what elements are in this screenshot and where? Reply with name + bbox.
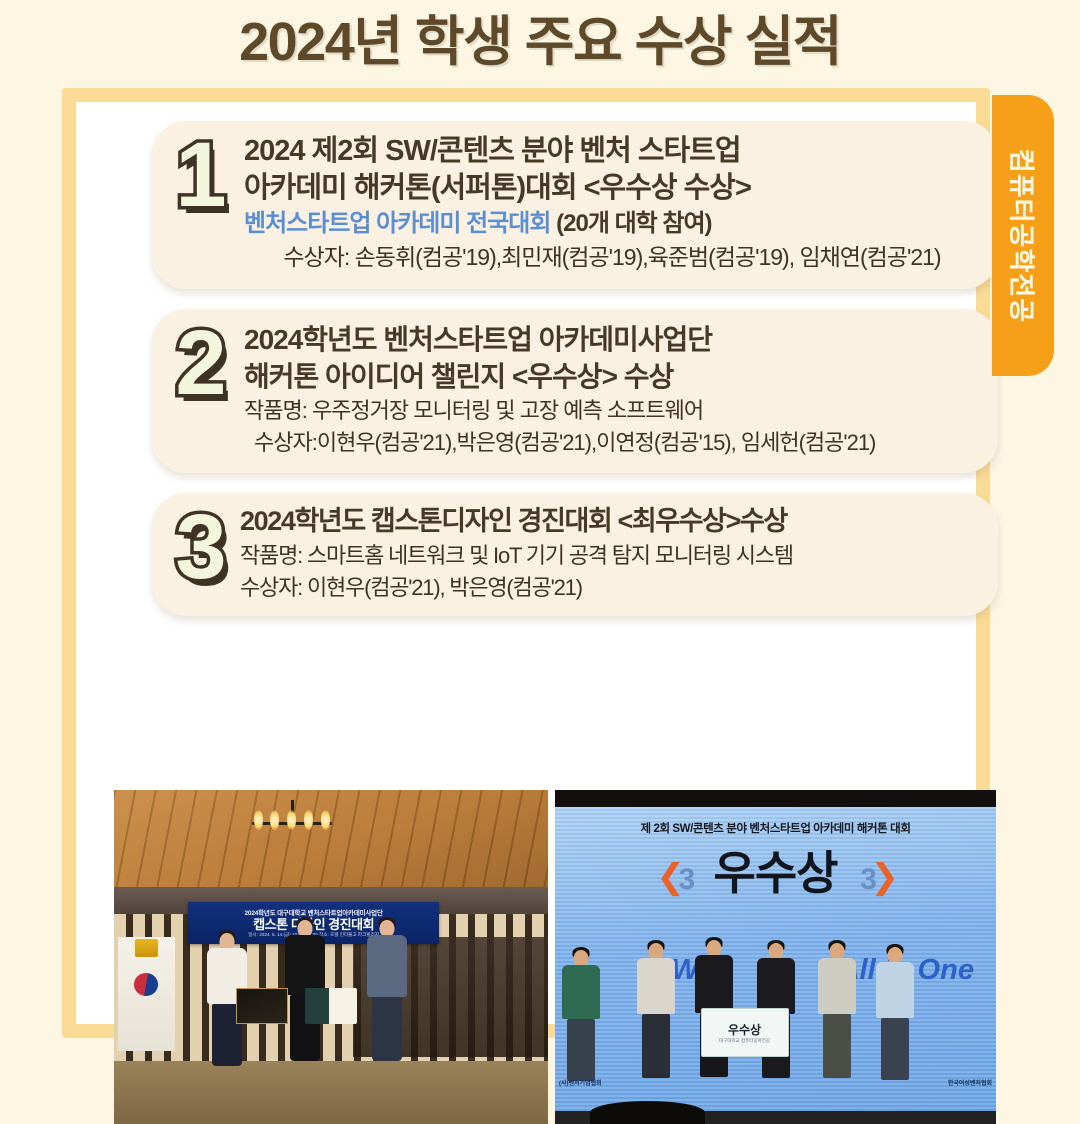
award-3-winners: 수상자: 이현우(컴공'21), 박은영(컴공'21): [240, 572, 986, 604]
photo2-logo-right: 한국여성벤처협회: [948, 1078, 992, 1087]
department-tab: 컴퓨터공학전공: [992, 95, 1054, 376]
photo2-board-title: 우수상: [728, 1021, 761, 1038]
photo2-award-board: 우수상 대구대학교 컴퓨터공학전공: [701, 1008, 789, 1057]
photo2-logo-left: (사)벤처기업협회: [559, 1078, 602, 1087]
photo1-banner-line-2: 캡스톤 디자인 경진대회: [253, 917, 374, 932]
photo2-top-bar: [555, 790, 996, 807]
photo1-award-plaque: [236, 988, 288, 1024]
award-2-winners: 수상자:이현우(컴공'21),박은영(컴공'21),이연정(컴공'15), 임세…: [244, 427, 980, 459]
photo2-audience-silhouette: [590, 1101, 705, 1124]
page-title: 2024년 학생 주요 수상 실적: [0, 2, 1080, 82]
hackathon-award-photo: 제 2회 SW/콘텐츠 분야 벤처스타트업 아카데미 해커톤 대회 ❮ 3 우수…: [555, 790, 996, 1124]
award-3-headline-1: 2024학년도 캡스톤디자인 경진대회 <최우수상>수상: [240, 503, 986, 540]
korean-flag-icon: [118, 937, 174, 1051]
department-tab-label: 컴퓨터공학전공: [1005, 148, 1042, 322]
award-card-3: 3 2024학년도 캡스톤디자인 경진대회 <최우수상>수상 작품명: 스마트홈…: [152, 493, 998, 616]
laurel-right-icon: ❯: [870, 857, 899, 897]
award-1-headline-1: 2024 제2회 SW/콘텐츠 분야 벤처 스타트업: [244, 133, 980, 170]
photo1-floor: [114, 1061, 548, 1124]
award-card-2: 2 2024학년도 벤처스타트업 아카데미사업단 해커톤 아이디어 챌린지 <우…: [152, 309, 998, 473]
photo2-sponsor-logos: (사)벤처기업협회 한국여성벤처협회: [555, 1071, 996, 1094]
award-1-subtitle-tail: (20개 대학 참여): [550, 210, 711, 237]
chandelier-icon: [244, 800, 339, 853]
award-1-winners: 수상자: 손동휘(컴공'19),최민재(컴공'19),육준범(컴공'19), 임…: [244, 241, 980, 273]
award-1-headline-2: 아카데미 해커톤(서퍼톤)대회 <우수상 수상>: [244, 170, 980, 207]
award-2-headline-2: 해커톤 아이디어 챌린지 <우수상> 수상: [244, 358, 980, 395]
award-poster: 2024년 학생 주요 수상 실적 컴퓨터공학전공 1 2024 제2회 SW/…: [0, 0, 1080, 1080]
award-number-badge-2: 2: [164, 315, 238, 412]
poster-frame: 1 2024 제2회 SW/콘텐츠 분야 벤처 스타트업 아카데미 해커톤(서퍼…: [62, 88, 990, 1038]
award-number-badge-3: 3: [164, 499, 238, 596]
award-1-subtitle-highlight: 벤처스타트업 아카데미 전국대회: [244, 210, 550, 237]
photo1-banner-line-1: 2024학년도 대구대학교 벤처스타트업아카데미사업단: [244, 907, 382, 917]
award-2-work-title: 작품명: 우주정거장 모니터링 및 고장 예측 소프트웨어: [244, 395, 980, 427]
award-3-work-title: 작품명: 스마트홈 네트워크 및 IoT 기기 공격 탐지 모니터링 시스템: [240, 540, 986, 572]
photo2-board-subtitle: 대구대학교 컴퓨터공학전공: [719, 1038, 770, 1044]
capstone-ceremony-photo: 2024학년도 대구대학교 벤처스타트업아카데미사업단 캡스톤 디자인 경진대회…: [114, 790, 548, 1124]
award-number-badge-1: 1: [164, 127, 238, 224]
award-card-list: 1 2024 제2회 SW/콘텐츠 분야 벤처 스타트업 아카데미 해커톤(서퍼…: [152, 121, 998, 636]
award-card-1: 1 2024 제2회 SW/콘텐츠 분야 벤처 스타트업 아카데미 해커톤(서퍼…: [152, 121, 998, 289]
photo1-certificate: [305, 988, 357, 1024]
photo2-screen-title: 제 2회 SW/콘텐츠 분야 벤처스타트업 아카데미 해커톤 대회: [555, 820, 996, 836]
photo-row: 2024학년도 대구대학교 벤처스타트업아카데미사업단 캡스톤 디자인 경진대회…: [114, 790, 996, 1124]
poster-panel: 1 2024 제2회 SW/콘텐츠 분야 벤처 스타트업 아카데미 해커톤(서퍼…: [76, 102, 976, 1024]
photo2-prize-text: 우수상: [555, 847, 996, 899]
award-1-subtitle: 벤처스타트업 아카데미 전국대회 (20개 대학 참여): [244, 207, 980, 241]
award-2-headline-1: 2024학년도 벤처스타트업 아카데미사업단: [244, 321, 980, 358]
